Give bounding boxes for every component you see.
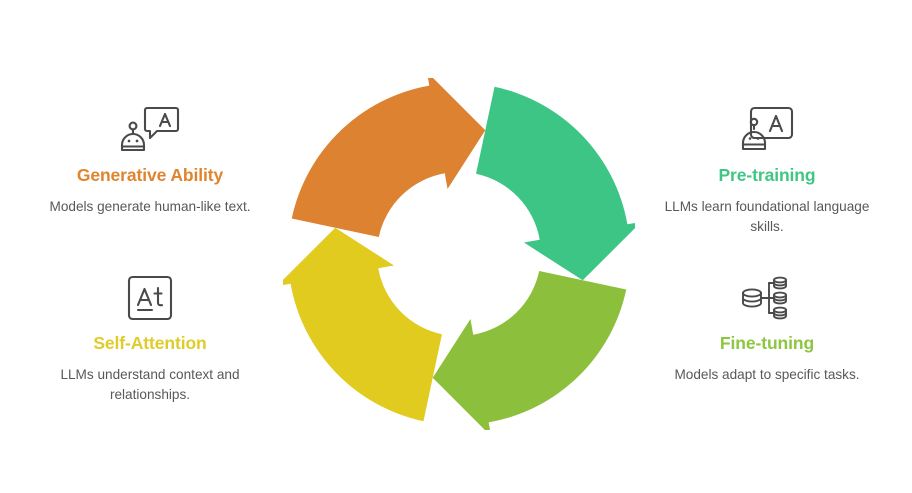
cycle-segment-fine-tuning xyxy=(433,271,627,430)
feature-fine-tuning: Fine-tuning Models adapt to specific tas… xyxy=(652,272,882,385)
database-branch-icon xyxy=(652,272,882,324)
robot-whiteboard-icon xyxy=(652,104,882,156)
feature-pre-training: Pre-training LLMs learn foundational lan… xyxy=(652,104,882,236)
feature-title: Self-Attention xyxy=(35,334,265,353)
cycle-segment-self-attention xyxy=(283,228,442,422)
cycle-segment-pre-training xyxy=(476,87,635,281)
feature-title: Generative Ability xyxy=(35,166,265,185)
cycle-diagram xyxy=(283,78,635,430)
cycle-segment-generative-ability xyxy=(292,78,486,237)
feature-description: LLMs learn foundational language skills. xyxy=(652,197,882,236)
feature-self-attention: Self-Attention LLMs understand context a… xyxy=(35,272,265,404)
feature-description: Models generate human-like text. xyxy=(35,197,265,216)
robot-speech-bubble-icon xyxy=(35,104,265,156)
llm-cycle-infographic: Generative Ability Models generate human… xyxy=(0,0,912,493)
feature-generative-ability: Generative Ability Models generate human… xyxy=(35,104,265,217)
feature-description: LLMs understand context and relationship… xyxy=(35,365,265,404)
feature-description: Models adapt to specific tasks. xyxy=(652,365,882,384)
cycle-segments xyxy=(283,78,635,430)
feature-title: Pre-training xyxy=(652,166,882,185)
feature-title: Fine-tuning xyxy=(652,334,882,353)
at-text-box-icon xyxy=(35,272,265,324)
